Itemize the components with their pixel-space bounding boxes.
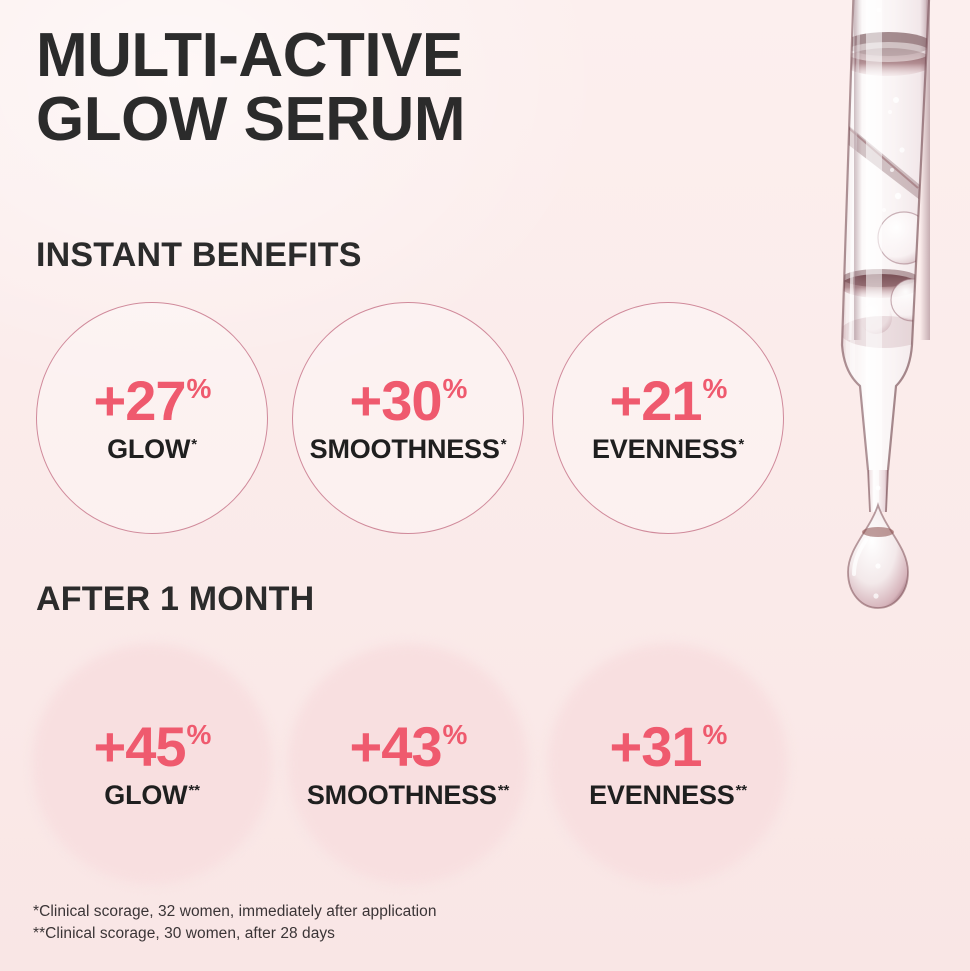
stat-number: +31 <box>610 719 702 775</box>
stat-circle-glow-instant: +27% GLOW* <box>36 302 268 534</box>
stat-row-after-1-month: +45% GLOW** +43% SMOOTHNESS** <box>0 648 970 888</box>
stat-number: +21 <box>610 373 702 429</box>
stat-label-text: SMOOTHNESS <box>310 436 500 463</box>
stat-label-glow-month: GLOW** <box>104 782 199 809</box>
stat-label-text: EVENNESS <box>592 436 737 463</box>
stat-circle-glow-month: +45% GLOW** <box>36 648 268 880</box>
stat-value-glow-instant: +27% <box>94 373 211 429</box>
stat-label-text: GLOW <box>104 782 187 809</box>
percent-sign: % <box>187 721 211 749</box>
section-heading-instant-benefits: INSTANT BENEFITS <box>36 236 362 275</box>
stat-circle-evenness-instant: +21% EVENNESS* <box>552 302 784 534</box>
stat-circle-smoothness-instant: +30% SMOOTHNESS* <box>292 302 524 534</box>
stat-label-smoothness-instant: SMOOTHNESS* <box>310 436 507 463</box>
stat-label-evenness-instant: EVENNESS* <box>592 436 744 463</box>
stat-circle-smoothness-month: +43% SMOOTHNESS** <box>292 648 524 880</box>
percent-sign: % <box>443 721 467 749</box>
page-title-line-1: MULTI-ACTIVE <box>36 24 676 88</box>
footnote-marker: * <box>191 437 197 452</box>
percent-sign: % <box>443 375 467 403</box>
stat-label-evenness-month: EVENNESS** <box>589 782 747 809</box>
stat-label-text: EVENNESS <box>589 782 734 809</box>
footnotes: *Clinical scorage, 32 women, immediately… <box>33 901 437 945</box>
stat-label-text: SMOOTHNESS <box>307 782 497 809</box>
stat-value-glow-month: +45% <box>94 719 211 775</box>
footnote-marker: ** <box>736 783 747 798</box>
footnote-marker: ** <box>498 783 509 798</box>
footnote-marker: * <box>501 437 507 452</box>
stat-number: +43 <box>350 719 442 775</box>
stat-label-text: GLOW <box>107 436 190 463</box>
footnote-line-1: *Clinical scorage, 32 women, immediately… <box>33 901 437 923</box>
stat-number: +45 <box>94 719 186 775</box>
stat-value-evenness-instant: +21% <box>610 373 727 429</box>
percent-sign: % <box>187 375 211 403</box>
footnote-marker: * <box>738 437 744 452</box>
footnote-line-2: **Clinical scorage, 30 women, after 28 d… <box>33 923 437 945</box>
footnote-marker: ** <box>188 783 199 798</box>
stat-value-smoothness-month: +43% <box>350 719 467 775</box>
stat-circle-evenness-month: +31% EVENNESS** <box>552 648 784 880</box>
stat-label-glow-instant: GLOW* <box>107 436 197 463</box>
stat-row-instant-benefits: +27% GLOW* +30% SMOOTHNESS* <box>0 302 970 542</box>
stat-label-smoothness-month: SMOOTHNESS** <box>307 782 509 809</box>
percent-sign: % <box>703 721 727 749</box>
section-heading-after-1-month: AFTER 1 MONTH <box>36 580 314 619</box>
stat-number: +27 <box>94 373 186 429</box>
stat-value-evenness-month: +31% <box>610 719 727 775</box>
percent-sign: % <box>703 375 727 403</box>
page-title: MULTI-ACTIVE GLOW SERUM <box>36 24 676 152</box>
stat-number: +30 <box>350 373 442 429</box>
stat-value-smoothness-instant: +30% <box>350 373 467 429</box>
page-title-line-2: GLOW SERUM <box>36 88 676 152</box>
